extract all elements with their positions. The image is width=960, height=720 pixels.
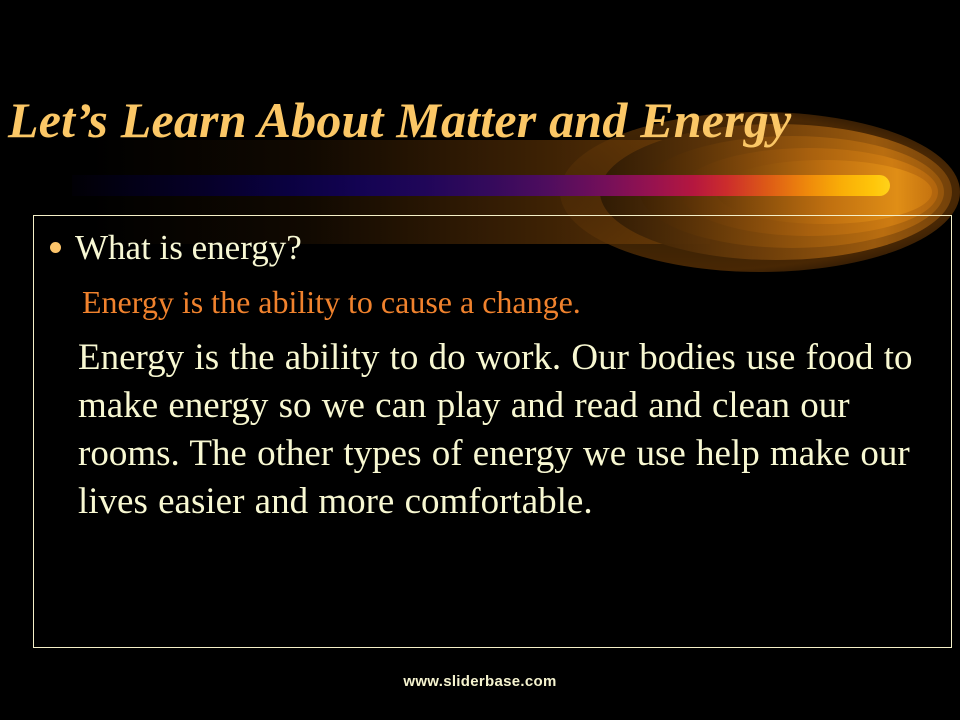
definition-text: Energy is the ability to cause a change. [82, 280, 939, 324]
content-body: What is energy? Energy is the ability to… [34, 216, 951, 526]
content-box: What is energy? Energy is the ability to… [33, 215, 952, 648]
body-paragraph: Energy is the ability to do work. Our bo… [78, 334, 933, 526]
list-item: What is energy? [42, 226, 939, 270]
bullet-item-label: What is energy? [75, 226, 939, 270]
footer-watermark: www.sliderbase.com [0, 673, 960, 690]
bullet-dot-icon [50, 242, 61, 253]
presentation-slide: Let’s Learn About Matter and Energy What… [0, 0, 960, 720]
slide-title: Let’s Learn About Matter and Energy [8, 90, 952, 150]
gradient-accent-bar [72, 175, 890, 196]
